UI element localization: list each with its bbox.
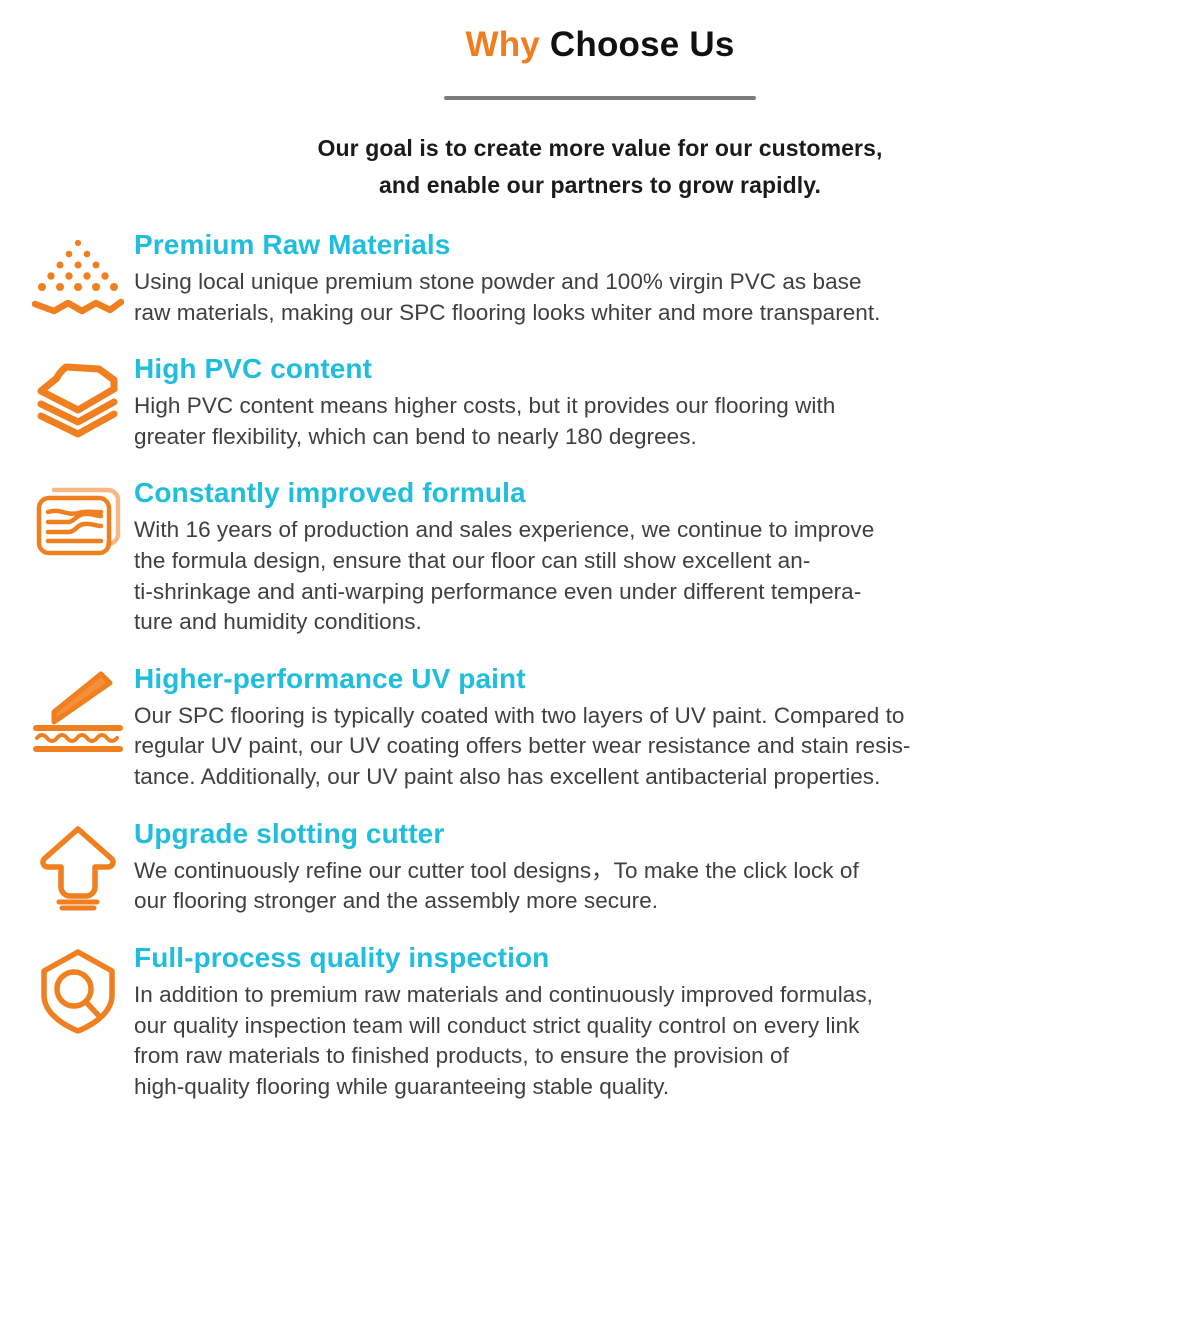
page-subtitle: Our goal is to create more value for our… xyxy=(150,130,1050,205)
feature-body: Higher-performance UV paint Our SPC floo… xyxy=(134,662,1190,793)
feature-item: Upgrade slotting cutter We continuously … xyxy=(22,817,1190,917)
page-subtitle-line-2: and enable our partners to grow rapidly. xyxy=(150,167,1050,204)
uv-paint-brush-icon xyxy=(22,662,134,758)
page-header: Why Choose Us Our goal is to create more… xyxy=(0,0,1200,204)
title-divider xyxy=(444,96,756,100)
feature-title: Higher-performance UV paint xyxy=(134,662,1142,695)
feature-item: Higher-performance UV paint Our SPC floo… xyxy=(22,662,1190,793)
feature-text: Our SPC flooring is typically coated wit… xyxy=(134,701,1142,793)
feature-text: In addition to premium raw materials and… xyxy=(134,980,1142,1102)
shield-magnifier-icon xyxy=(22,941,134,1037)
feature-list: Premium Raw Materials Using local unique… xyxy=(0,228,1200,1102)
feature-body: Full-process quality inspection In addit… xyxy=(134,941,1190,1102)
feature-text: With 16 years of production and sales ex… xyxy=(134,515,1142,637)
upgrade-arrow-icon xyxy=(22,817,134,913)
feature-text: Using local unique premium stone powder … xyxy=(134,267,1142,328)
feature-body: High PVC content High PVC content means … xyxy=(134,352,1190,452)
layer-stack-icon xyxy=(22,352,134,448)
why-choose-us-page: Why Choose Us Our goal is to create more… xyxy=(0,0,1200,1334)
feature-title: Constantly improved formula xyxy=(134,476,1142,509)
feature-body: Premium Raw Materials Using local unique… xyxy=(134,228,1190,328)
feature-item: Constantly improved formula With 16 year… xyxy=(22,476,1190,637)
feature-title: Upgrade slotting cutter xyxy=(134,817,1142,850)
page-title-rest: Choose Us xyxy=(550,25,735,64)
feature-title: Full-process quality inspection xyxy=(134,941,1142,974)
feature-item: Premium Raw Materials Using local unique… xyxy=(22,228,1190,328)
feature-item: High PVC content High PVC content means … xyxy=(22,352,1190,452)
feature-text: High PVC content means higher costs, but… xyxy=(134,391,1142,452)
page-title-accent: Why xyxy=(465,25,539,64)
page-title: Why Choose Us xyxy=(0,26,1200,65)
wood-grain-plank-icon xyxy=(22,476,134,572)
feature-item: Full-process quality inspection In addit… xyxy=(22,941,1190,1102)
feature-title: High PVC content xyxy=(134,352,1142,385)
feature-body: Constantly improved formula With 16 year… xyxy=(134,476,1190,637)
feature-title: Premium Raw Materials xyxy=(134,228,1142,261)
feature-text: We continuously refine our cutter tool d… xyxy=(134,856,1142,917)
page-subtitle-line-1: Our goal is to create more value for our… xyxy=(150,130,1050,167)
stone-powder-icon xyxy=(22,228,134,324)
feature-body: Upgrade slotting cutter We continuously … xyxy=(134,817,1190,917)
